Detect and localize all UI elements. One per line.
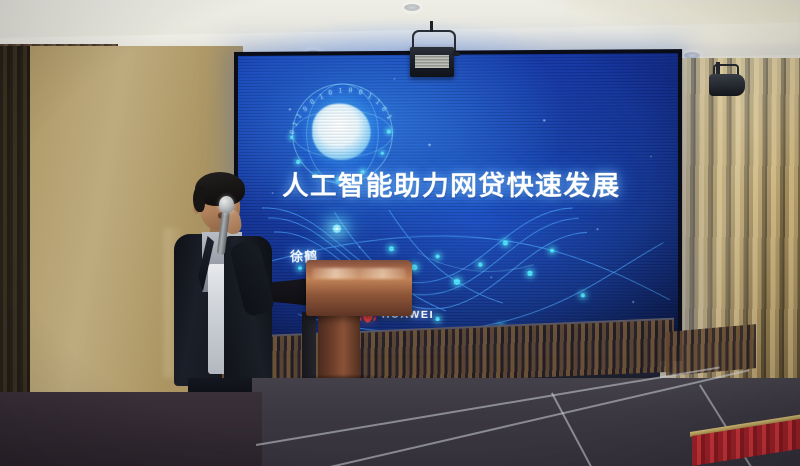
- microphone-head: [219, 196, 234, 213]
- microphone-body: [217, 211, 230, 256]
- handheld-microphone: [216, 196, 240, 262]
- globe-node: [290, 136, 293, 139]
- conference-photo-scene: 0 1 1 0 0 1 0 1 0 0 1 1 0 1 1 0: [0, 0, 800, 466]
- hair-sideburn: [193, 186, 205, 212]
- stage-fresnel-light: [404, 30, 462, 82]
- network-node: [527, 271, 532, 276]
- globe-node: [381, 152, 384, 155]
- network-node: [478, 263, 482, 267]
- recessed-downlight: [404, 4, 420, 11]
- light-lens: [415, 55, 449, 68]
- curtain-left-dark-edge: [0, 46, 30, 392]
- network-node: [436, 254, 440, 258]
- network-node: [389, 246, 394, 251]
- projector-body: [709, 74, 745, 96]
- slide-title: 人工智能助力网贷快速发展: [282, 163, 649, 203]
- ceiling-projector: [709, 62, 749, 96]
- binary-ring-text: 0 1 1 0 0 1 0 1 0 0 1 1 0 1 1 0: [280, 75, 405, 160]
- light-arm: [452, 52, 460, 56]
- network-node: [550, 249, 554, 253]
- network-node: [503, 240, 508, 245]
- stage-floor-left: [0, 392, 262, 466]
- podium-neck: [302, 312, 316, 380]
- network-node: [454, 279, 460, 285]
- network-node: [581, 293, 585, 297]
- podium-gloss-highlight: [312, 268, 406, 279]
- network-node: [332, 224, 341, 233]
- network-node: [436, 317, 440, 321]
- globe-node: [387, 129, 391, 133]
